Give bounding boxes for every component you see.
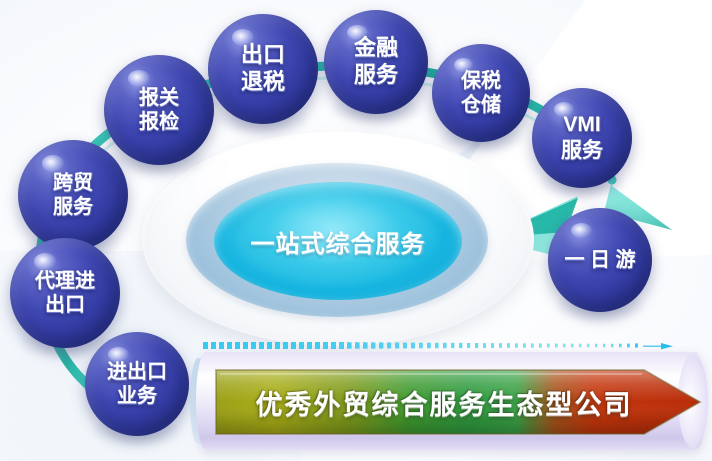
node-label-line: 跨贸 [53, 171, 93, 195]
node-label-line: 金融 [354, 35, 398, 62]
node-label-line: 出口 [241, 42, 285, 69]
node-sphere-import-export-biz[interactable]: 进出口业务 [85, 332, 189, 436]
node-sphere-vmi-service[interactable]: VMI服务 [532, 88, 632, 188]
node-label-line: 进出口 [107, 360, 167, 384]
center-label: 一站式综合服务 [214, 182, 462, 300]
node-label-line: 服务 [354, 62, 398, 89]
node-sphere-one-day-tour[interactable]: 一 日 游 [548, 208, 652, 312]
infographic-canvas: 一站式综合服务 跨贸服务报关报检出口退税金融服务保税仓储VMI服务一 日 游代理… [0, 0, 712, 461]
node-sphere-export-tax-rebate[interactable]: 出口退税 [208, 14, 318, 124]
node-label-line: VMI [563, 112, 600, 138]
node-label-line: 仓储 [461, 93, 501, 117]
node-label-line: 保税 [461, 69, 501, 93]
node-label-line: 报检 [139, 110, 179, 134]
node-label-line: 代理进 [35, 269, 95, 293]
node-label-line: 出口 [45, 293, 85, 317]
cyan-dotted-progress-line [203, 340, 681, 352]
node-sphere-agency-import-export[interactable]: 代理进出口 [10, 238, 120, 348]
banner-text: 优秀外贸综合服务生态型公司 [214, 366, 674, 438]
node-label-line: 退税 [241, 69, 285, 96]
node-label-line: 服务 [561, 138, 603, 164]
node-label-line: 报关 [139, 86, 179, 110]
node-sphere-bonded-warehousing[interactable]: 保税仓储 [432, 44, 530, 142]
node-label-line: 服务 [53, 195, 93, 219]
node-label-line: 一 日 游 [564, 248, 635, 272]
node-label-line: 业务 [117, 384, 157, 408]
node-sphere-financial-service[interactable]: 金融服务 [324, 10, 428, 114]
node-sphere-cross-border-trade[interactable]: 跨贸服务 [18, 140, 128, 250]
node-sphere-customs-inspection[interactable]: 报关报检 [104, 55, 214, 165]
